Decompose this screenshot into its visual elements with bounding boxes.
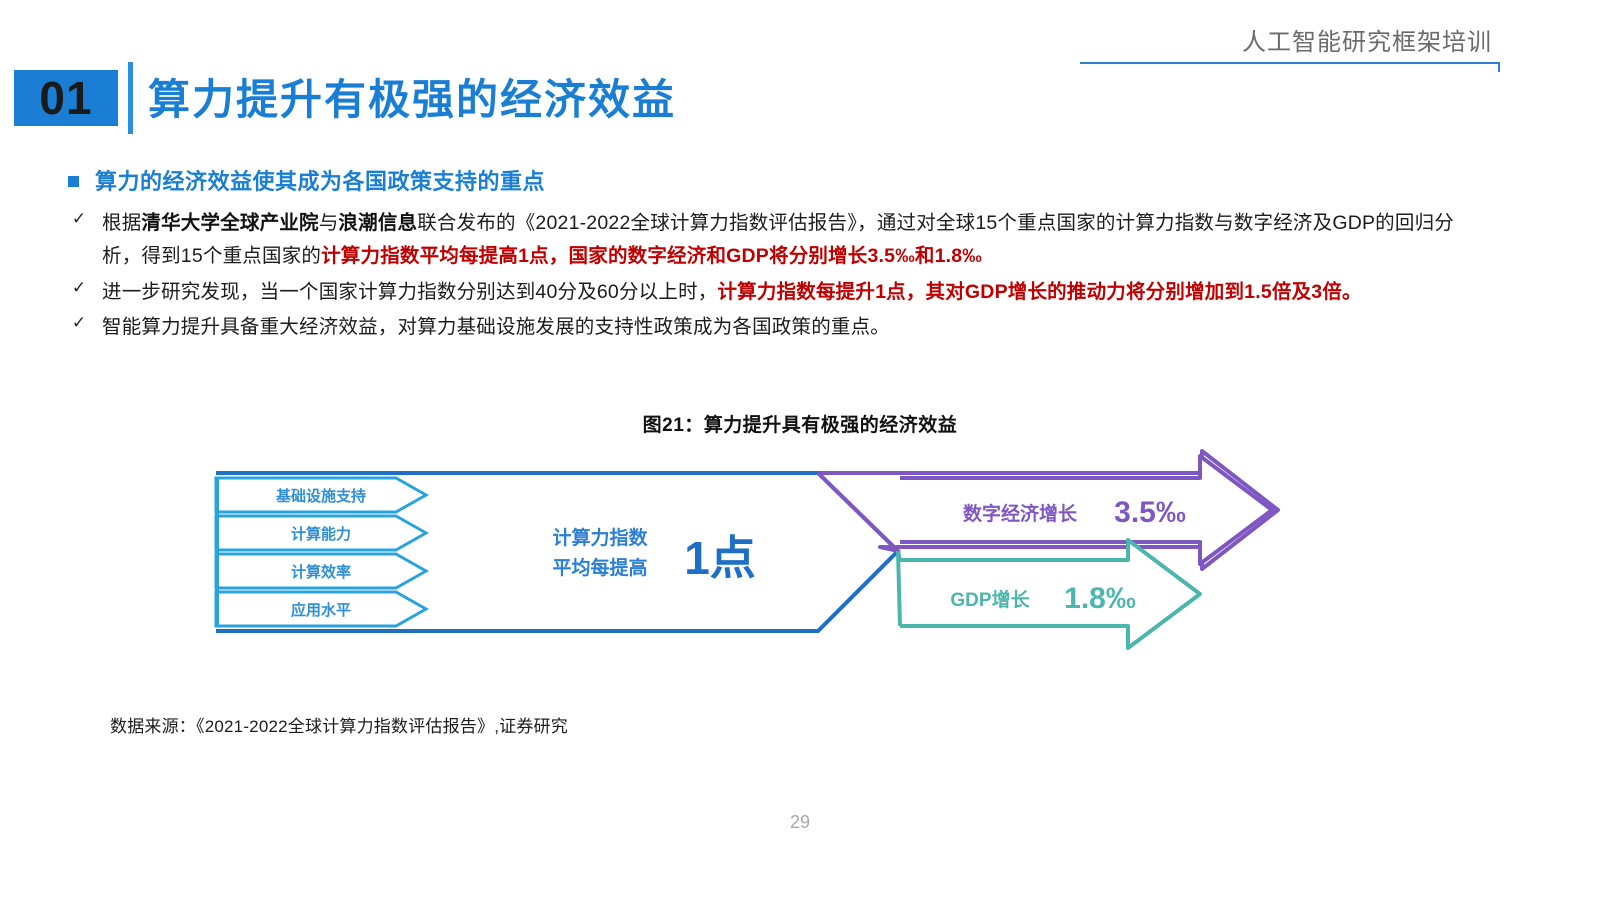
section-number-badge: 01 [14,70,118,126]
check-bullet-icon: ✓ [68,278,90,298]
header-rule [1080,62,1500,64]
text-segment: 计算力指数每提升1点，其对GDP增长的推动力将分别增加到1.5倍及3倍。 [717,281,1361,303]
figure-diagram: 基础设施支持 计算能力 计算效率 应用水平 计算力指数 平均每提高 1点 数字经… [200,448,1310,708]
text-segment: 清华大学全球产业院 [141,212,318,234]
page-title: 算力提升有极强的经济效益 [148,66,676,127]
center-line-2: 平均每提高 [552,556,647,579]
bullet-text: 根据清华大学全球产业院与浪潮信息联合发布的《2021-2022全球计算力指数评估… [102,207,1468,274]
bullet-item: ✓智能算力提升具备重大经济效益，对算力基础设施发展的支持性政策成为各国政策的重点… [68,311,1468,345]
text-segment: 浪潮信息 [338,212,417,234]
slide-root: 人工智能研究框架培训 01 算力提升有极强的经济效益 算力的经济效益使其成为各国… [0,0,1600,900]
section-number: 01 [39,75,92,121]
section-heading-label: 算力的经济效益使其成为各国政策支持的重点 [95,168,545,197]
input-label-3: 计算效率 [291,563,351,581]
bullet-text: 智能算力提升具备重大经济效益，对算力基础设施发展的支持性政策成为各国政策的重点。 [102,311,890,345]
gdp-label: GDP增长 [950,588,1030,611]
figure-caption: 图21：算力提升具有极强的经济效益 [0,410,1600,437]
bullet-item: ✓根据清华大学全球产业院与浪潮信息联合发布的《2021-2022全球计算力指数评… [68,207,1468,274]
page-number: 29 [0,812,1600,833]
text-segment: 根据 [102,212,141,234]
gdp-value: 1.8‰ [1064,582,1136,615]
square-bullet-icon [68,176,79,187]
bullet-text: 进一步研究发现，当一个国家计算力指数分别达到40分及60分以上时，计算力指数每提… [102,276,1362,310]
gdp-arrow-link [898,551,900,626]
header-title: 人工智能研究框架培训 [1242,22,1492,57]
bullet-list: ✓根据清华大学全球产业院与浪潮信息联合发布的《2021-2022全球计算力指数评… [68,207,1468,345]
text-segment: 计算力指数平均每提高1点，国家的数字经济和GDP将分别增长3.5‰和1.8‰ [321,245,982,267]
text-segment: 智能算力提升具备重大经济效益，对算力基础设施发展的支持性政策成为各国政策的重点。 [102,316,890,338]
check-bullet-icon: ✓ [68,209,90,229]
section-heading: 算力的经济效益使其成为各国政策支持的重点 [68,168,1468,197]
center-line-1: 计算力指数 [552,526,648,549]
title-accent-bar [128,62,133,134]
bullet-item: ✓进一步研究发现，当一个国家计算力指数分别达到40分及60分以上时，计算力指数每… [68,276,1468,310]
input-label-1: 基础设施支持 [275,487,366,505]
header-rule-tick [1498,62,1500,72]
text-segment: 进一步研究发现，当一个国家计算力指数分别达到40分及60分以上时， [102,281,717,303]
gdp-arrow-body [900,540,1200,648]
center-value: 1点 [684,532,756,584]
input-label-2: 计算能力 [291,525,351,543]
body-content: 算力的经济效益使其成为各国政策支持的重点 ✓根据清华大学全球产业院与浪潮信息联合… [68,168,1468,347]
input-label-4: 应用水平 [291,601,351,619]
digital-economy-value: 3.5‰ [1114,496,1186,529]
source-note: 数据来源：《2021-2022全球计算力指数评估报告》,证券研究 [110,712,568,737]
check-bullet-icon: ✓ [68,313,90,333]
digital-economy-label: 数字经济增长 [963,502,1078,525]
text-segment: 与 [319,212,339,234]
